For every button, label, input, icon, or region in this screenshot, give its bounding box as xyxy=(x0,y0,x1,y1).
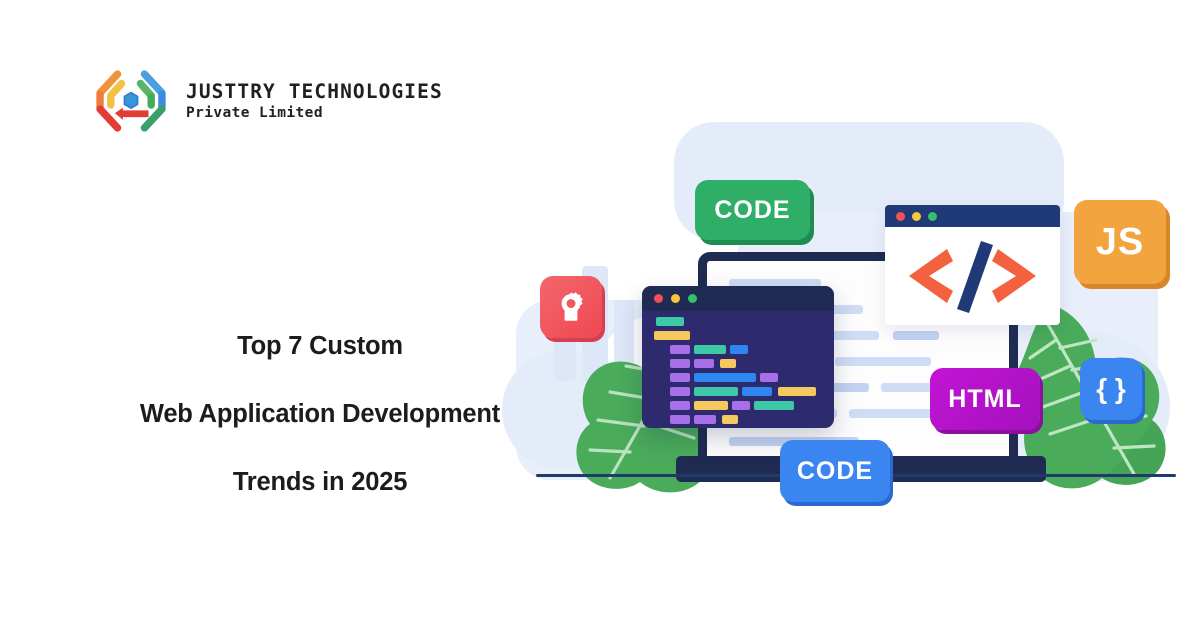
brand-logo[interactable]: JUSTTRY TECHNOLOGIES Private Limited xyxy=(88,66,443,136)
badge-js-orange[interactable]: JS xyxy=(1074,200,1166,284)
badge-code-green[interactable]: CODE xyxy=(695,180,810,240)
window-close-dot-icon[interactable] xyxy=(896,212,905,221)
web-development-illustration: CODE JS HTML CODE { } xyxy=(490,100,1200,530)
badge-js-orange-label: JS xyxy=(1096,221,1144,264)
browser-content xyxy=(885,227,1060,325)
badge-html-purple-label: HTML xyxy=(948,385,1021,414)
badge-braces-blue-label: { } xyxy=(1096,373,1126,405)
editor-maximize-dot-icon[interactable] xyxy=(688,294,697,303)
brand-legal-suffix: Private Limited xyxy=(186,106,443,121)
editor-close-dot-icon[interactable] xyxy=(654,294,663,303)
gear-icon xyxy=(554,290,588,324)
badge-code-blue[interactable]: CODE xyxy=(780,440,890,502)
badge-braces-blue[interactable]: { } xyxy=(1080,358,1142,420)
browser-title-bar xyxy=(885,205,1060,227)
editor-minimize-dot-icon[interactable] xyxy=(671,294,680,303)
code-tag-icon xyxy=(885,227,1060,325)
banner-root: JUSTTRY TECHNOLOGIES Private Limited Top… xyxy=(0,0,1200,628)
hexagon-arrows-logo-icon xyxy=(88,66,174,136)
window-maximize-dot-icon[interactable] xyxy=(928,212,937,221)
editor-title-bar xyxy=(642,286,834,311)
brand-name: JUSTTRY TECHNOLOGIES xyxy=(186,82,443,102)
editor-code-lines xyxy=(642,311,834,428)
browser-window xyxy=(885,205,1060,325)
badge-html-purple[interactable]: HTML xyxy=(930,368,1040,430)
badge-code-green-label: CODE xyxy=(714,196,790,225)
badge-gear-red[interactable] xyxy=(540,276,602,338)
badge-code-blue-label: CODE xyxy=(797,457,873,486)
brand-logo-text: JUSTTRY TECHNOLOGIES Private Limited xyxy=(186,82,443,121)
code-editor-window xyxy=(642,286,834,428)
window-minimize-dot-icon[interactable] xyxy=(912,212,921,221)
